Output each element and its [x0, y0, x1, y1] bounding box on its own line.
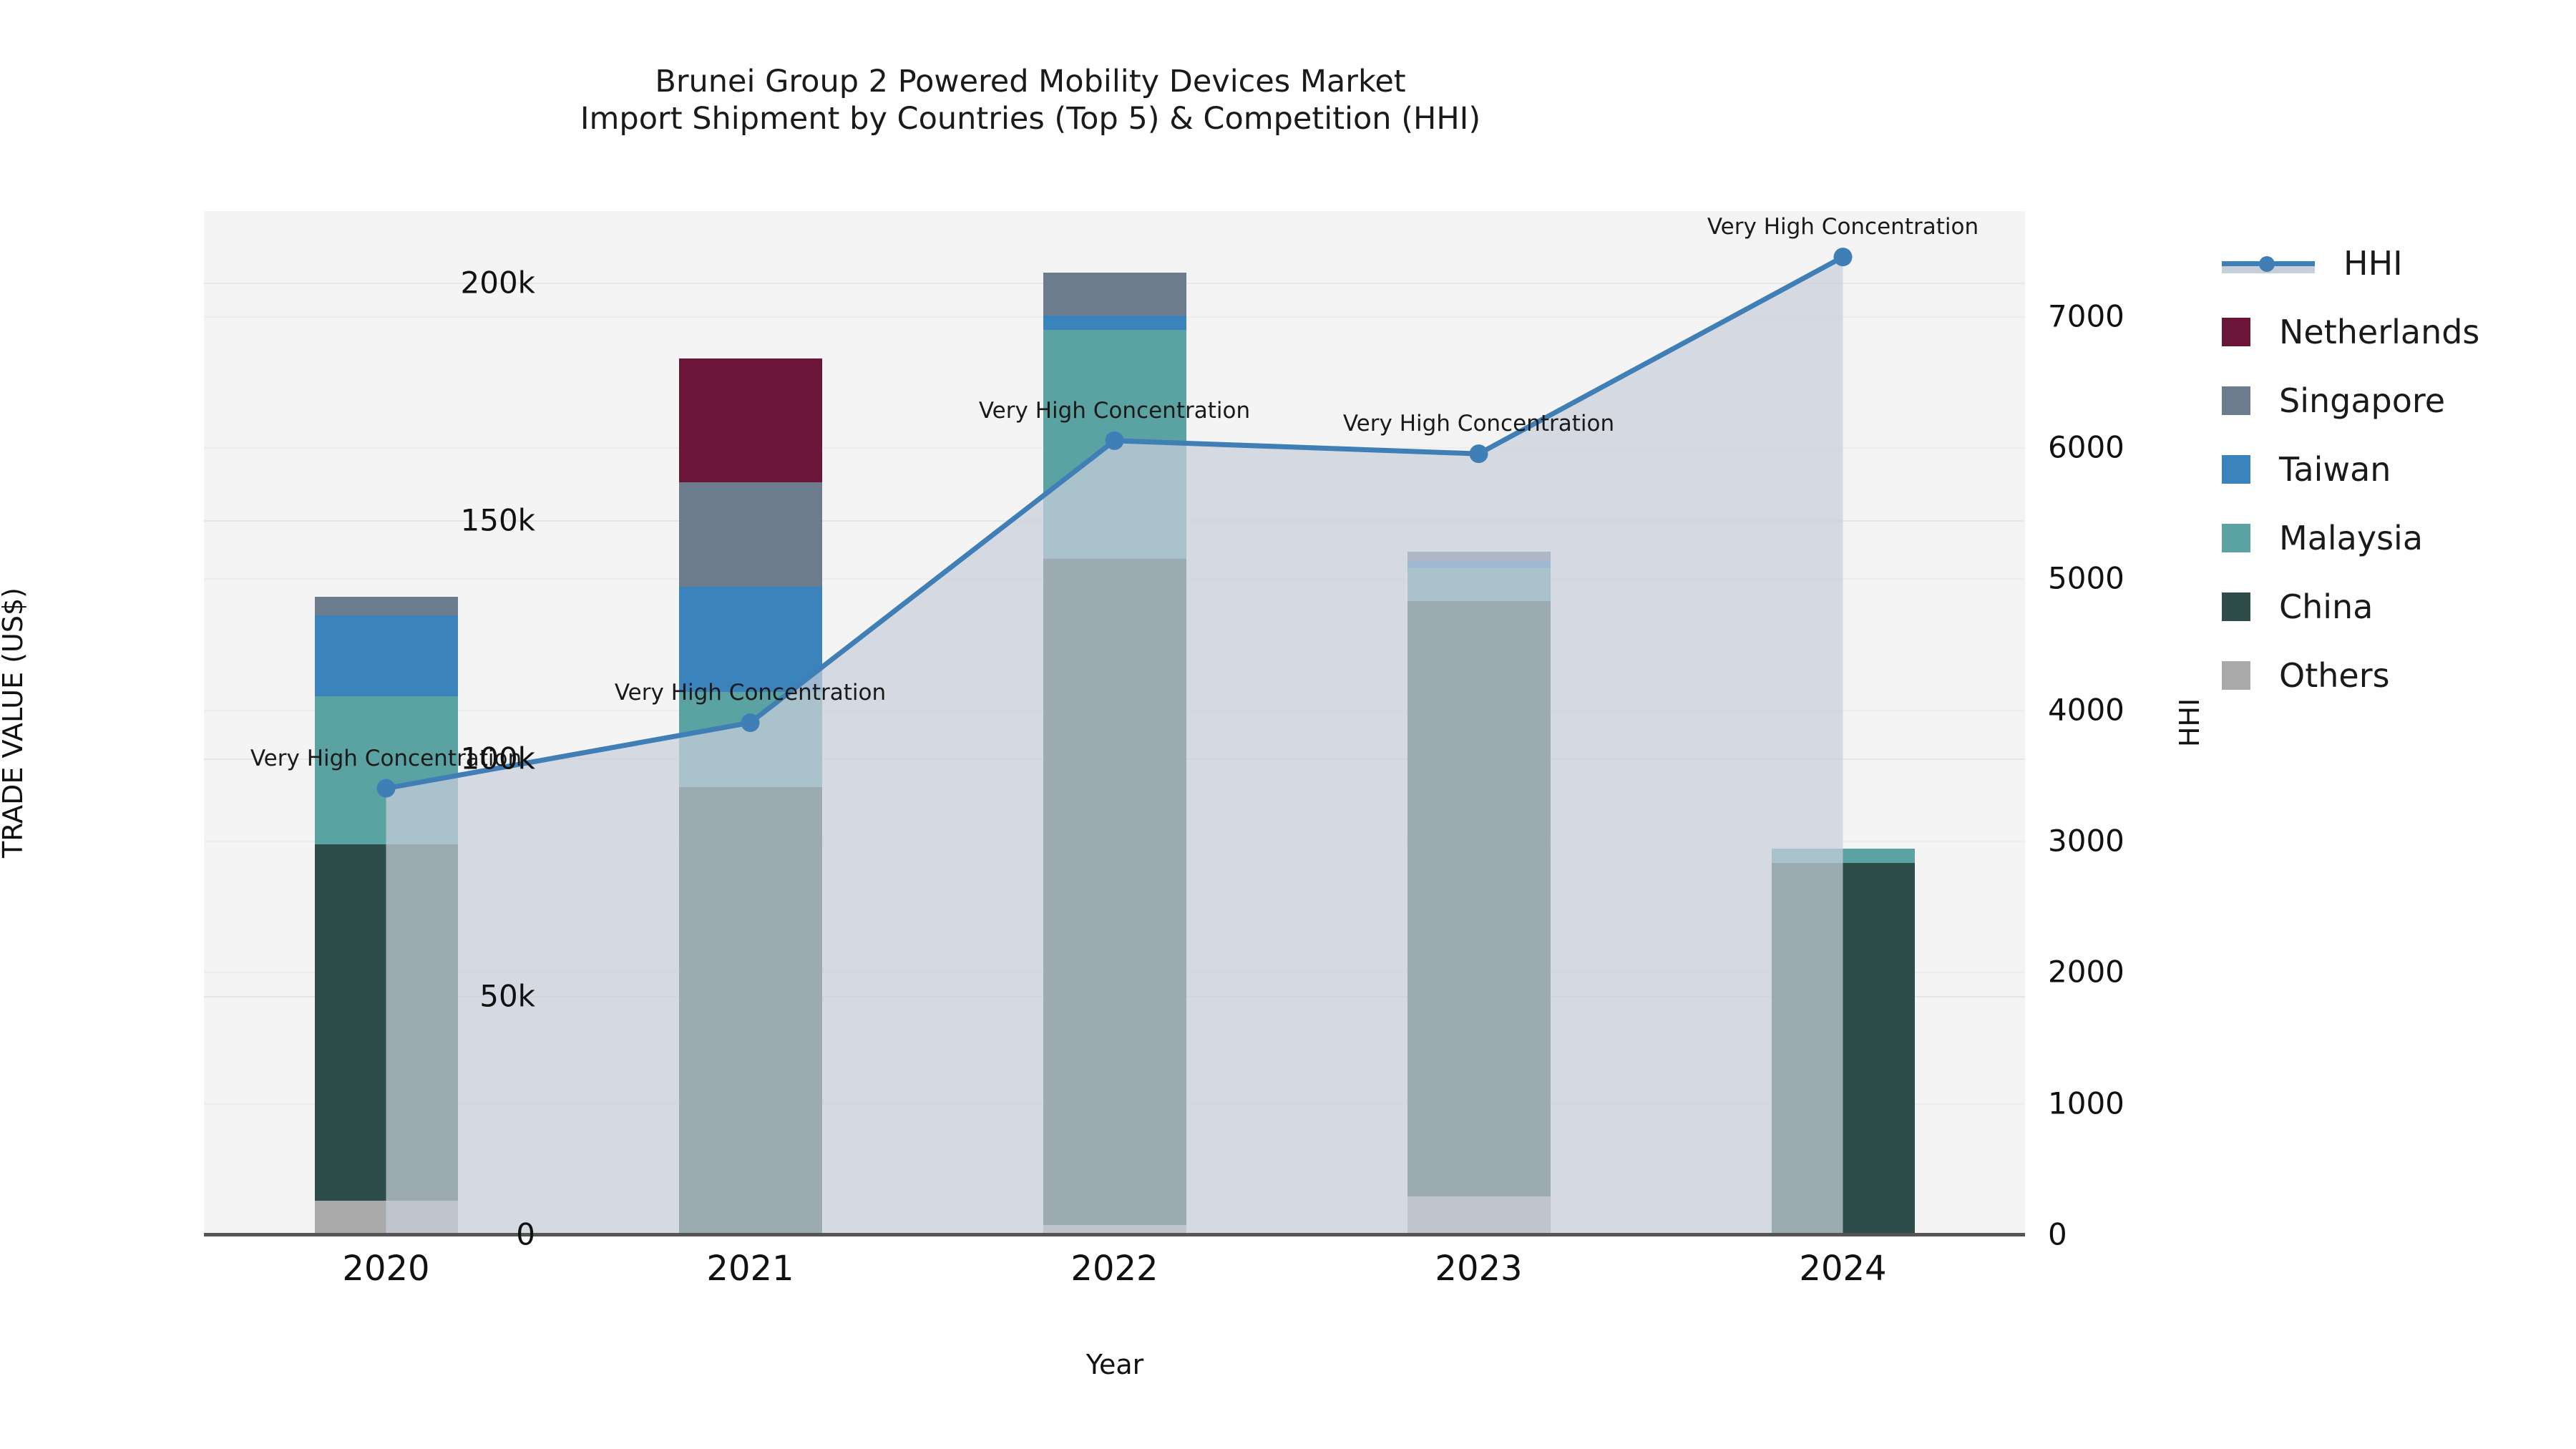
y2-tick-label: 6000	[2048, 430, 2124, 465]
legend-label: Malaysia	[2279, 519, 2423, 557]
legend-item-others[interactable]: Others	[2222, 641, 2479, 710]
hhi-marker[interactable]	[1834, 248, 1853, 266]
legend-swatch	[2222, 386, 2250, 415]
legend-swatch	[2222, 524, 2250, 552]
x-tick-label-2023: 2023	[1435, 1249, 1522, 1289]
y2-tick-label: 3000	[2048, 824, 2124, 859]
y-tick-label: 50k	[479, 979, 535, 1014]
y2-tick-label: 4000	[2048, 692, 2124, 727]
annotation-label: Very High Concentration	[979, 398, 1250, 424]
x-tick-label-2022: 2022	[1070, 1249, 1158, 1289]
x-axis-label: Year	[1086, 1349, 1143, 1380]
legend-swatch	[2222, 661, 2250, 690]
plot-area: Very High ConcentrationVery High Concent…	[204, 211, 2025, 1234]
y2-tick-label: 0	[2048, 1217, 2067, 1252]
legend-label: China	[2279, 587, 2373, 626]
annotation-label: Very High Concentration	[615, 680, 886, 706]
x-tick-label-2020: 2020	[342, 1249, 429, 1289]
legend-swatch	[2222, 318, 2250, 346]
y-tick-label: 100k	[461, 741, 536, 776]
legend-item-singapore[interactable]: Singapore	[2222, 366, 2479, 435]
legend-label: Singapore	[2279, 381, 2445, 420]
y2-tick-label: 5000	[2048, 561, 2124, 596]
y2-tick-label: 2000	[2048, 955, 2124, 990]
y-tick-label: 0	[516, 1217, 535, 1252]
legend-item-malaysia[interactable]: Malaysia	[2222, 504, 2479, 572]
y2-tick-label: 1000	[2048, 1085, 2124, 1121]
x-tick-label-2021: 2021	[706, 1249, 794, 1289]
legend-label: Netherlands	[2279, 313, 2479, 351]
chart-legend: HHINetherlandsSingaporeTaiwanMalaysiaChi…	[2222, 229, 2479, 710]
annotation-label: Very High Concentration	[1343, 411, 1614, 436]
chart-title: Brunei Group 2 Powered Mobility Devices …	[0, 63, 2061, 138]
chart-root: Brunei Group 2 Powered Mobility Devices …	[0, 0, 2576, 1449]
x-axis-line	[204, 1233, 2025, 1236]
legend-label: Others	[2279, 656, 2390, 695]
legend-label: HHI	[2343, 244, 2403, 283]
annotation-label: Very High Concentration	[1707, 214, 1979, 240]
legend-swatch	[2222, 592, 2250, 621]
y-tick-label: 150k	[461, 503, 536, 538]
y2-tick-label: 7000	[2048, 298, 2124, 333]
chart-title-line-1: Brunei Group 2 Powered Mobility Devices …	[0, 63, 2061, 100]
y2-axis-label: HHI	[2174, 698, 2205, 747]
chart-title-line-2: Import Shipment by Countries (Top 5) & C…	[0, 100, 2061, 137]
legend-item-hhi[interactable]: HHI	[2222, 229, 2479, 298]
hhi-marker[interactable]	[1106, 431, 1124, 450]
hhi-marker[interactable]	[741, 713, 760, 732]
legend-item-taiwan[interactable]: Taiwan	[2222, 435, 2479, 504]
legend-swatch	[2222, 455, 2250, 484]
legend-item-china[interactable]: China	[2222, 572, 2479, 641]
hhi-marker[interactable]	[1470, 444, 1488, 463]
hhi-line-series	[204, 211, 2025, 1234]
x-tick-label-2024: 2024	[1799, 1249, 1886, 1289]
legend-item-netherlands[interactable]: Netherlands	[2222, 298, 2479, 366]
legend-label: Taiwan	[2279, 450, 2391, 489]
y-axis-label: TRADE VALUE (US$)	[0, 587, 29, 858]
hhi-marker[interactable]	[377, 779, 396, 798]
legend-line-marker	[2222, 249, 2315, 278]
y-tick-label: 200k	[461, 265, 536, 300]
